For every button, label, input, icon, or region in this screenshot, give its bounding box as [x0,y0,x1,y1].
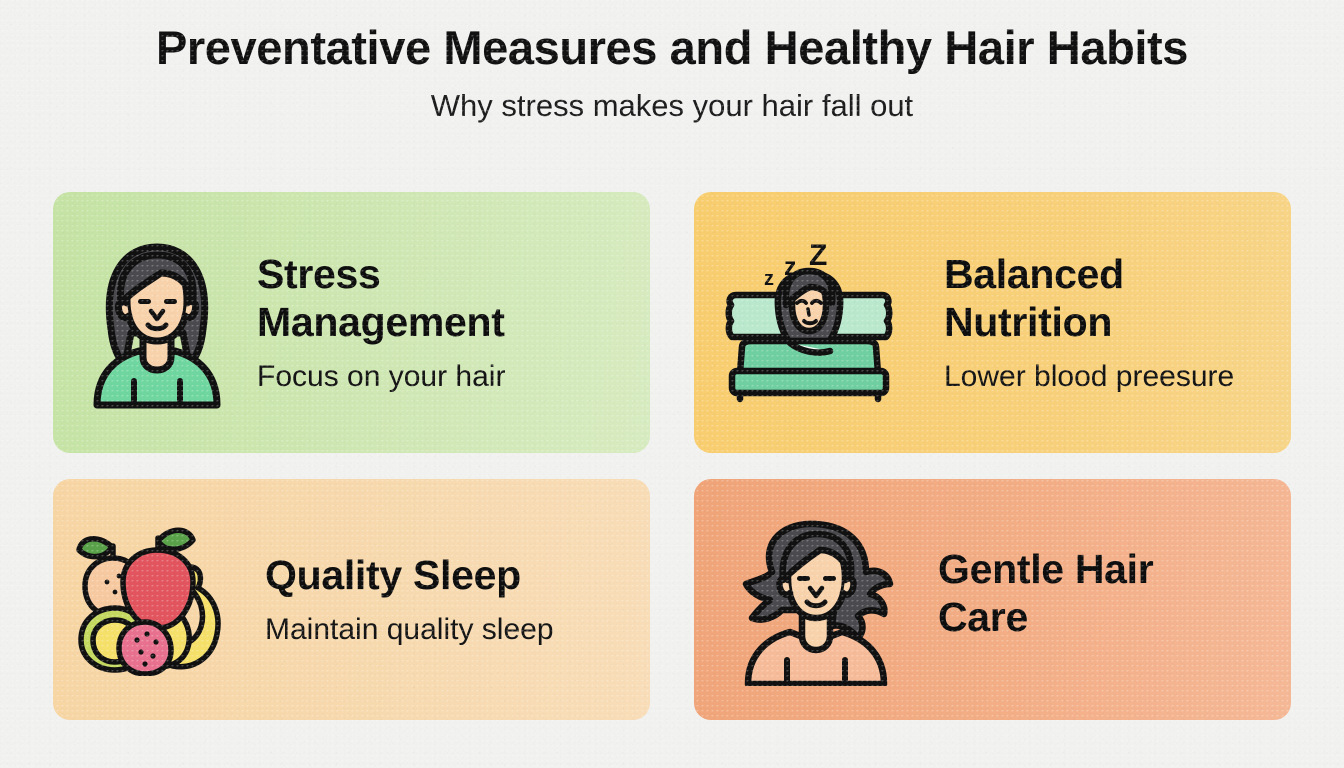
zzz-small: z [764,268,774,290]
page-title: Preventative Measures and Healthy Hair H… [0,22,1344,75]
card-title: Quality Sleep [265,551,625,599]
card-gentle-hair-care[interactable]: Gentle Hair Care [694,479,1291,720]
card-title: Gentle Hair Care [938,545,1238,642]
card-subtitle: Lower blood preesure [944,359,1291,395]
card-subtitle: Maintain quality sleep [265,612,650,648]
card-quality-sleep[interactable]: Quality Sleep Maintain quality sleep [53,479,650,720]
woman-portrait-icon [91,237,223,409]
card-text-block: Stress Management Focus on your hair [257,250,650,396]
card-title: Stress Management [257,250,577,347]
zzz-large: Z [809,243,827,272]
card-text-block: Quality Sleep Maintain quality sleep [265,551,650,648]
page-subtitle: Why stress makes your hair fall out [0,89,1344,123]
assorted-fruits-icon [67,524,235,676]
card-text-block: Gentle Hair Care [938,545,1291,655]
card-balanced-nutrition[interactable]: z z Z [694,192,1291,453]
infographic-page: Preventative Measures and Healthy Hair H… [0,0,1344,768]
card-stress-management[interactable]: Stress Management Focus on your hair [53,192,650,453]
card-title: Balanced Nutrition [944,250,1204,347]
card-subtitle: Focus on your hair [257,359,650,395]
woman-flowing-hair-icon [738,514,896,686]
page-header: Preventative Measures and Healthy Hair H… [0,22,1344,123]
habit-cards-grid: Stress Management Focus on your hair z z… [53,192,1291,720]
sleeping-in-bed-icon: z z Z [716,243,902,403]
card-text-block: Balanced Nutrition Lower blood preesure [944,250,1291,396]
